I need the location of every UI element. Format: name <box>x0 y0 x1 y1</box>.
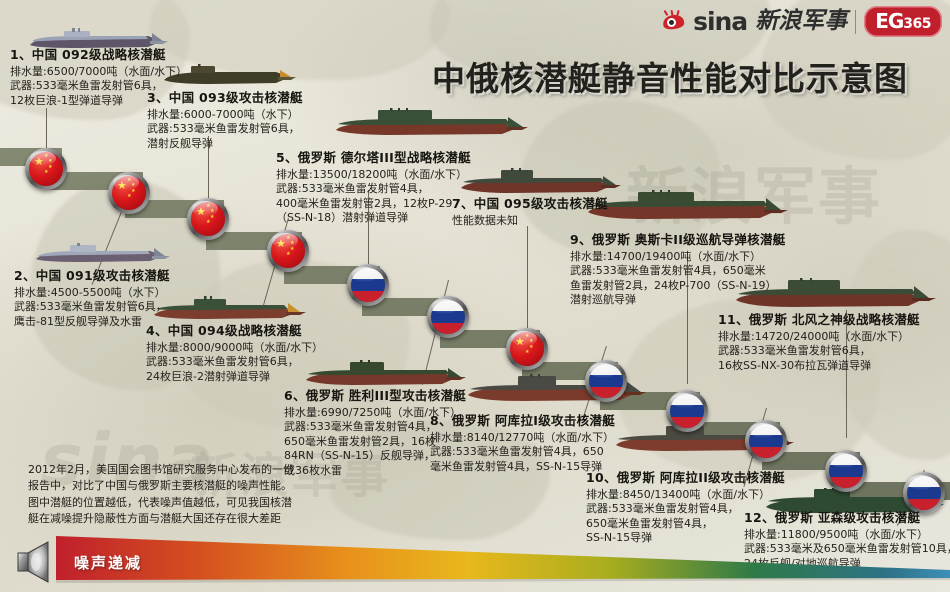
sub-line: 排水量:6500/7000吨（水面/水下） <box>10 65 187 80</box>
flag-badge-1[interactable]: ★ ★ ★ ★ ★ <box>25 148 67 190</box>
sub-line: 16枚SS-NX-30布拉瓦弹道导弹 <box>718 359 920 374</box>
flag-badge-8[interactable] <box>585 360 627 402</box>
flag-badge-12[interactable] <box>903 472 945 514</box>
leader-line <box>527 226 528 328</box>
sub-line: 武器:533毫米鱼雷发射管6具， <box>147 122 303 137</box>
sub-info-8: 8、俄罗斯 阿库拉I级攻击核潜艇 排水量:8140/12770吨（水面/水下） … <box>430 413 615 474</box>
sub-line: 潜射反舰导弹 <box>147 137 303 152</box>
sub-line: 排水量:13500/18200吨（水面/水下） <box>276 168 471 183</box>
sub-line: 24枚巨浪-2潜射弹道导弹 <box>146 370 323 385</box>
submarine-art-4 <box>148 296 308 324</box>
sub-title: 2、中国 091级攻击核潜艇 <box>14 268 170 284</box>
sub-line: 400毫米鱼雷发射管2具，12枚P-29 <box>276 197 471 212</box>
infographic-poster: 新浪军事 sina 新浪军事 sina 新浪军事 EG 365 中俄核潜艇静音性… <box>0 0 950 592</box>
sub-line: 武器:533毫米鱼雷发射管6具， <box>718 344 920 359</box>
sub-title: 4、中国 094级战略核潜艇 <box>146 323 323 339</box>
sub-line: （SS-N-18）潜射弹道导弹 <box>276 211 471 226</box>
speaker-icon <box>14 538 60 584</box>
submarine-art-6 <box>300 360 468 390</box>
sub-line: 排水量:14700/19400吨（水面/水下） <box>570 250 786 265</box>
flag-badge-3[interactable]: ★ ★ ★ ★ ★ <box>187 198 229 240</box>
sub-title: 7、中国 095级攻击核潜艇 <box>452 196 608 212</box>
footnote-text: 2012年2月，美国国会图书馆研究服务中心发布的一份报告中，对比了中国与俄罗斯主… <box>28 462 296 527</box>
sub-line: 排水量:14720/24000吨（水面/水下） <box>718 330 920 345</box>
sub-title: 8、俄罗斯 阿库拉I级攻击核潜艇 <box>430 413 615 429</box>
sub-info-11: 11、俄罗斯 北风之神级战略核潜艇 排水量:14720/24000吨（水面/水下… <box>718 312 920 373</box>
noise-gradient-bar: 噪声递减 <box>0 530 950 592</box>
sub-title: 10、俄罗斯 阿库拉II级攻击核潜艇 <box>586 470 785 486</box>
sub-title: 11、俄罗斯 北风之神级战略核潜艇 <box>718 312 920 328</box>
noise-label: 噪声递减 <box>74 552 142 573</box>
submarine-art-9 <box>582 190 790 224</box>
sub-title: 9、俄罗斯 奥斯卡II级巡航导弹核潜艇 <box>570 232 786 248</box>
sub-line: 性能数据未知 <box>452 214 608 229</box>
flag-badge-11[interactable] <box>825 450 867 492</box>
sub-line: 潜射巡航导弹 <box>570 293 786 308</box>
sub-line: 排水量:8450/13400吨（水面/水下） <box>586 488 785 503</box>
flag-badge-6[interactable] <box>427 296 469 338</box>
sub-title: 12、俄罗斯 亚森级攻击核潜艇 <box>744 510 950 526</box>
flag-badge-5[interactable] <box>347 264 389 306</box>
sub-title: 1、中国 092级战略核潜艇 <box>10 47 187 63</box>
flag-badge-10[interactable] <box>745 420 787 462</box>
sub-line: 排水量:8000/9000吨（水面/水下） <box>146 341 323 356</box>
sub-info-9: 9、俄罗斯 奥斯卡II级巡航导弹核潜艇 排水量:14700/19400吨（水面/… <box>570 232 786 308</box>
sub-line: 武器:533毫米鱼雷发射管6具， <box>14 300 170 315</box>
flag-badge-4[interactable]: ★ ★ ★ ★ ★ <box>267 230 309 272</box>
sub-info-5: 5、俄罗斯 德尔塔III型战略核潜艇 排水量:13500/18200吨（水面/水… <box>276 150 471 226</box>
submarine-art-2 <box>30 243 172 268</box>
sub-line: 武器:533毫米鱼雷发射管4具， <box>276 182 471 197</box>
sub-line: 鱼雷发射管2具，24枚P-700（SS-N-19） <box>570 279 786 294</box>
flag-badge-9[interactable] <box>666 390 708 432</box>
leader-line <box>46 108 47 148</box>
sub-info-3: 3、中国 093级攻击核潜艇 排水量:6000-7000吨（水下） 武器:533… <box>147 90 303 151</box>
sub-line: 武器:533毫米鱼雷发射管4具，650毫米 <box>570 264 786 279</box>
sub-line: 排水量:4500-5500吨（水下） <box>14 286 170 301</box>
sub-info-7: 7、中国 095级攻击核潜艇 性能数据未知 <box>452 196 608 228</box>
sub-title: 5、俄罗斯 德尔塔III型战略核潜艇 <box>276 150 471 166</box>
sub-line: 排水量:6000-7000吨（水下） <box>147 108 303 123</box>
sub-title: 6、俄罗斯 胜利III型攻击核潜艇 <box>284 388 466 404</box>
sub-info-4: 4、中国 094级战略核潜艇 排水量:8000/9000吨（水面/水下） 武器:… <box>146 323 323 384</box>
sub-line: 排水量:8140/12770吨（水面/水下） <box>430 431 615 446</box>
sub-title: 3、中国 093级攻击核潜艇 <box>147 90 303 106</box>
flag-badge-7[interactable]: ★ ★ ★ ★ ★ <box>506 328 548 370</box>
sub-line: 武器:533毫米鱼雷发射管4具，650 <box>430 445 615 460</box>
submarine-art-5 <box>330 108 530 140</box>
sub-line: 武器:533毫米鱼雷发射管6具， <box>146 355 323 370</box>
flag-badge-2[interactable]: ★ ★ ★ ★ ★ <box>108 172 150 214</box>
sub-info-2: 2、中国 091级攻击核潜艇 排水量:4500-5500吨（水下） 武器:533… <box>14 268 170 329</box>
